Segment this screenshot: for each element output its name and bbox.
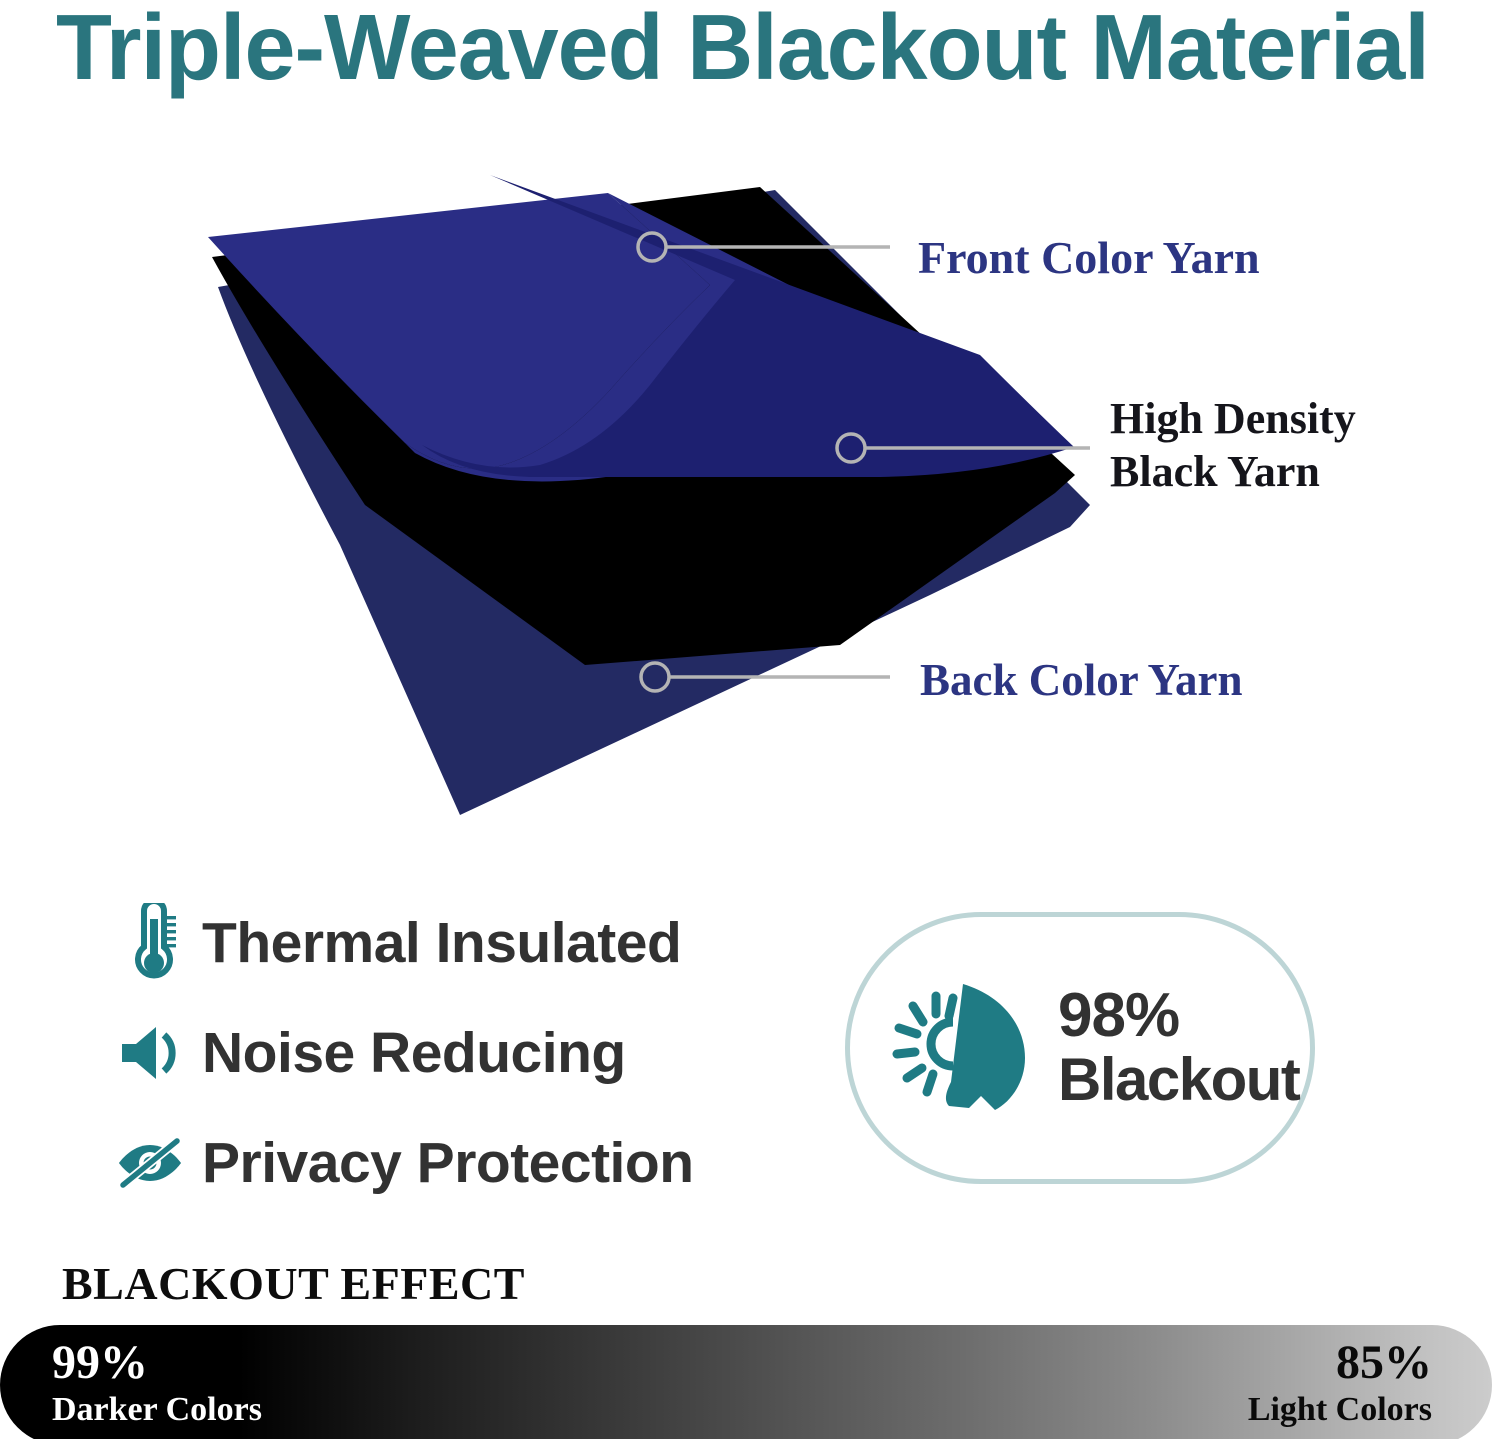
blackout-badge: 98% Blackout	[845, 912, 1315, 1184]
gradient-left-caption: Darker Colors	[52, 1390, 262, 1430]
feature-label-privacy: Privacy Protection	[202, 1130, 694, 1196]
feature-row-noise: Noise Reducing	[112, 1003, 792, 1103]
gradient-bar-right-value: 85% Light Colors	[1248, 1336, 1432, 1430]
blackout-effect-heading: BLACKOUT EFFECT	[62, 1258, 525, 1310]
callout-label-back: Back Color Yarn	[920, 653, 1243, 708]
feature-label-thermal: Thermal Insulated	[202, 910, 681, 976]
gradient-left-percent: 99%	[52, 1336, 262, 1390]
feature-list: Thermal Insulated Noise Reducing	[112, 893, 792, 1223]
callout-label-middle-line1: High Density	[1110, 394, 1356, 443]
infographic-page: Triple-Weaved Blackout Material	[0, 0, 1492, 1439]
badge-percent: 98%	[1058, 984, 1299, 1048]
eye-slash-icon	[112, 1121, 188, 1205]
feature-label-noise: Noise Reducing	[202, 1020, 626, 1086]
badge-text: 98% Blackout	[1058, 984, 1299, 1112]
thermometer-icon	[112, 901, 188, 985]
gradient-right-caption: Light Colors	[1248, 1390, 1432, 1430]
feature-row-thermal: Thermal Insulated	[112, 893, 792, 993]
speaker-sound-icon	[112, 1011, 188, 1095]
callout-label-middle-line2: Black Yarn	[1110, 445, 1356, 498]
callout-label-middle: High Density Black Yarn	[1110, 392, 1356, 498]
page-title: Triple-Weaved Blackout Material	[56, 0, 1435, 98]
callout-label-front: Front Color Yarn	[918, 230, 1260, 286]
badge-word: Blackout	[1058, 1048, 1299, 1112]
gradient-right-percent: 85%	[1248, 1336, 1432, 1390]
feature-row-privacy: Privacy Protection	[112, 1113, 792, 1213]
sun-behind-curtain-icon	[886, 973, 1036, 1123]
gradient-bar-left-value: 99% Darker Colors	[52, 1336, 262, 1430]
